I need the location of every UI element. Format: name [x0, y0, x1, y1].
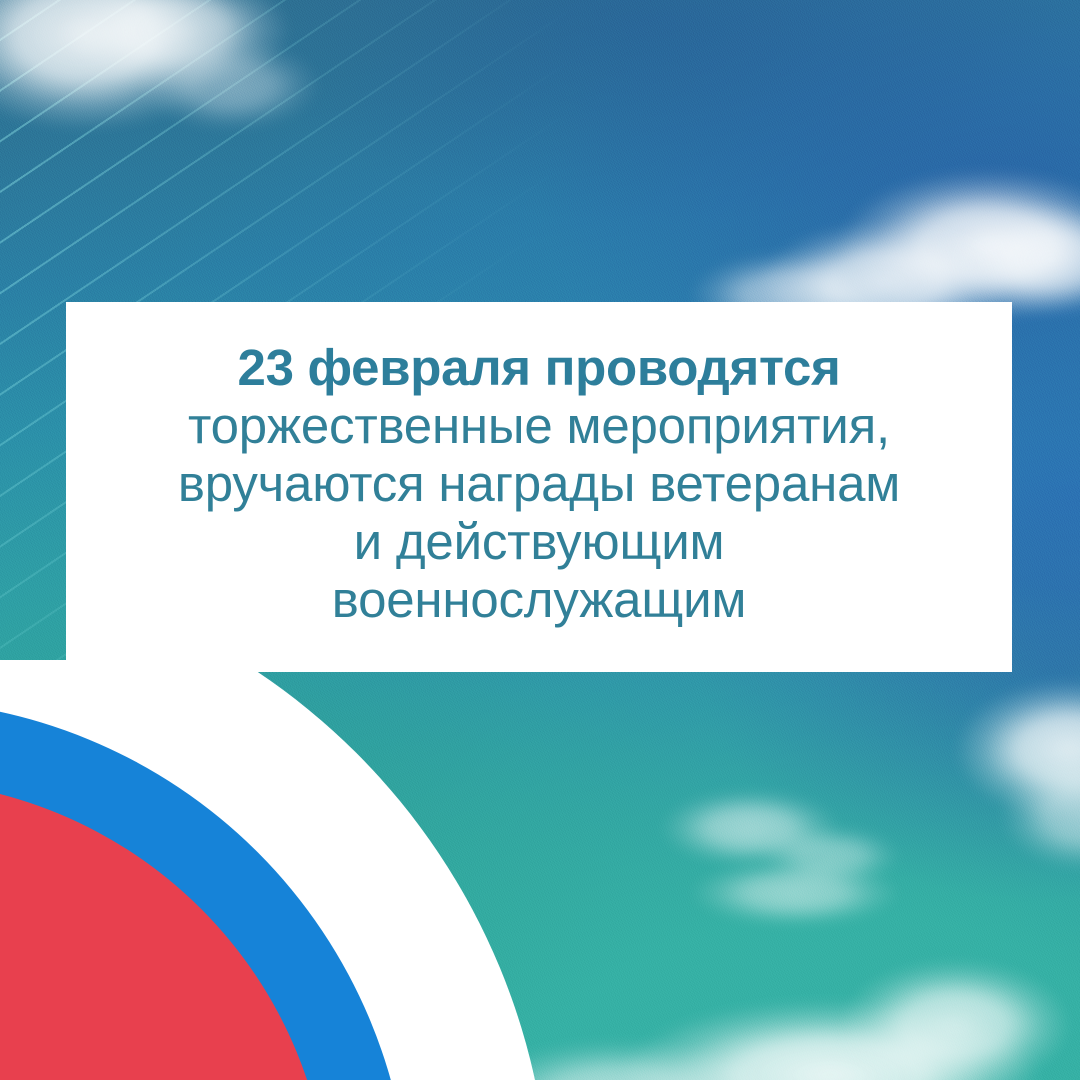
headline-text: 23 февраля проводятся	[238, 339, 841, 397]
body-line-1: торжественные мероприятия,	[188, 397, 890, 455]
body-line-4: военнослужащим	[332, 571, 746, 629]
body-line-2: вручаются награды ветеранам	[178, 455, 900, 513]
text-card: 23 февраля проводятся торжественные меро…	[66, 302, 1012, 672]
body-line-3: и действующим	[354, 513, 725, 571]
poster-canvas: 23 февраля проводятся торжественные меро…	[0, 0, 1080, 1080]
